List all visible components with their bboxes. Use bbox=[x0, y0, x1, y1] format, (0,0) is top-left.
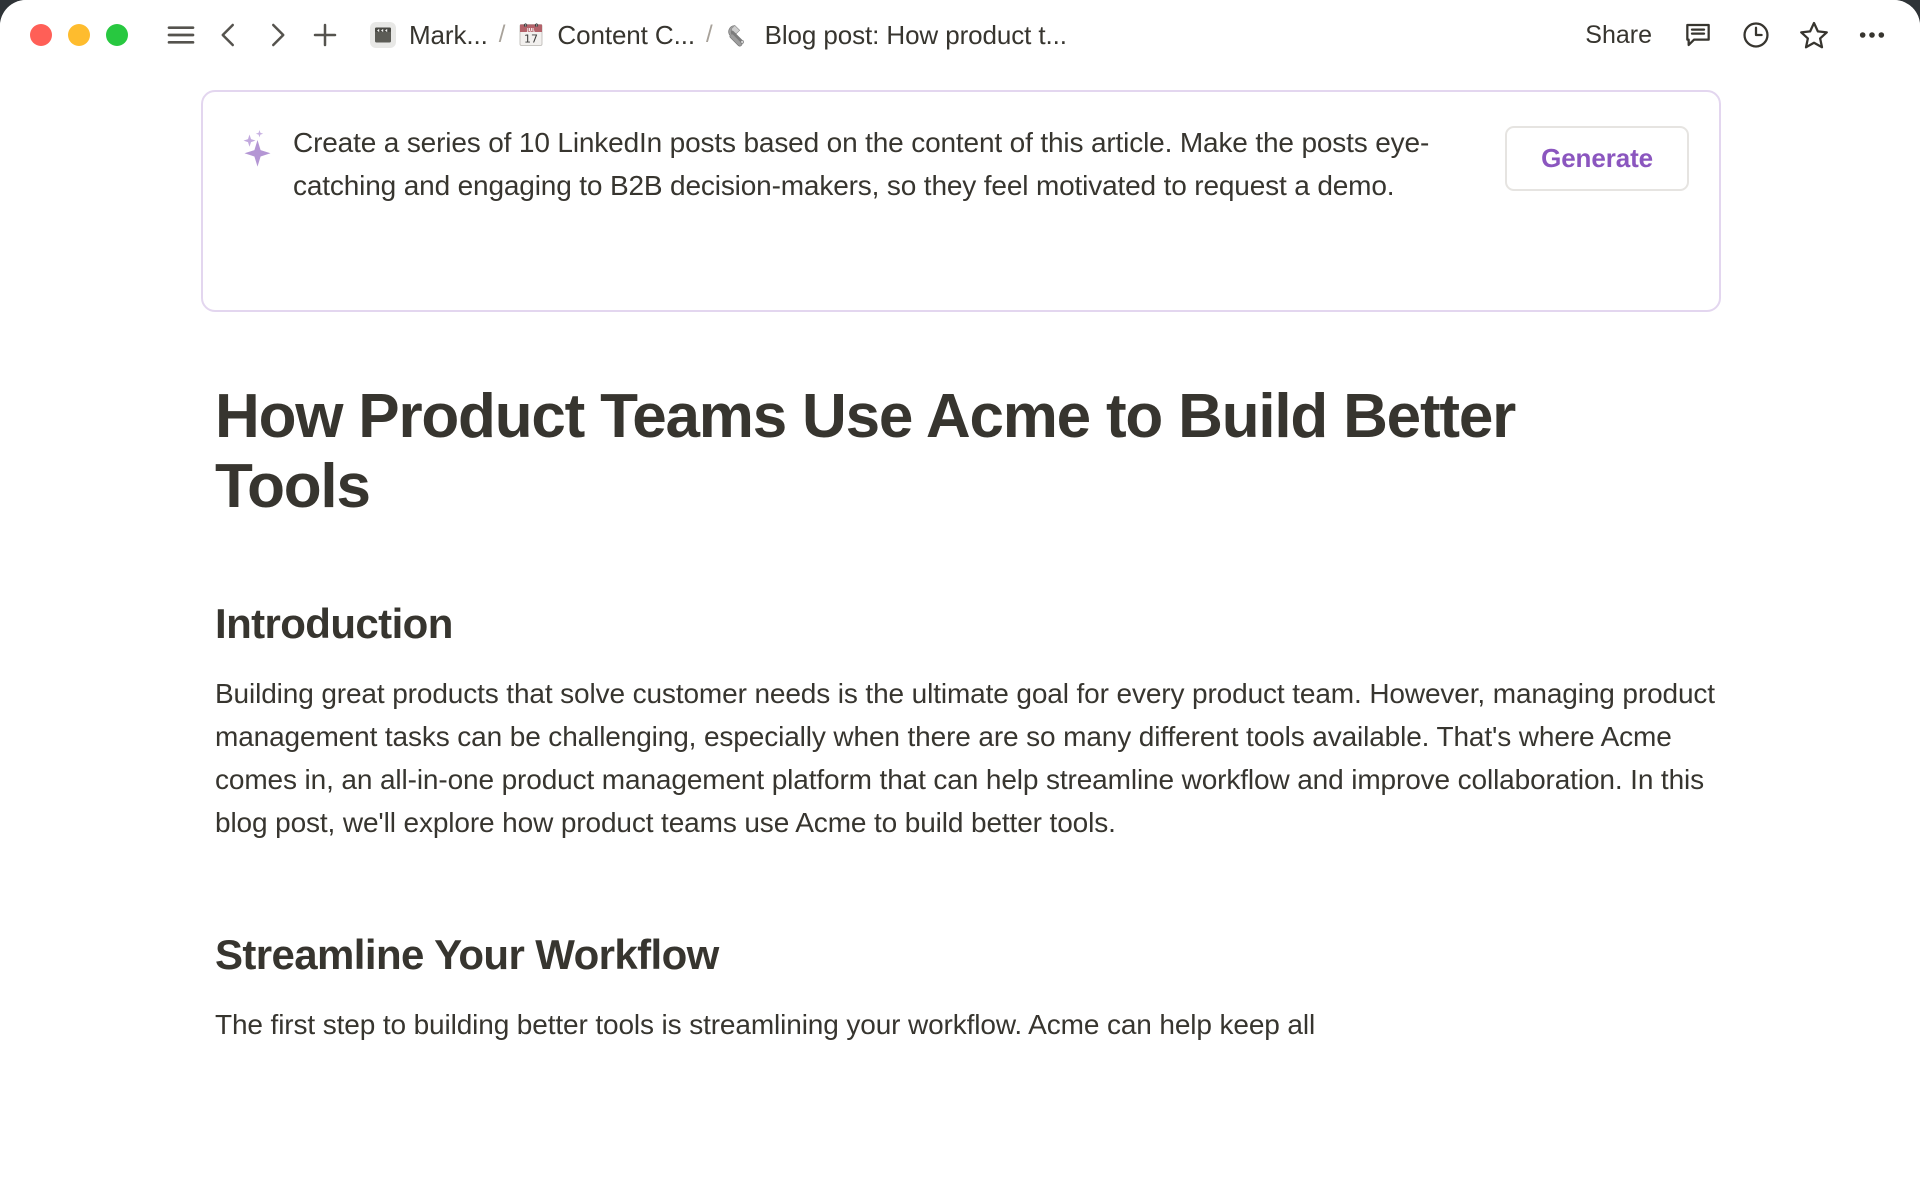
titlebar-actions: Share bbox=[1555, 13, 1894, 57]
window-controls bbox=[24, 24, 128, 46]
chevron-right-icon[interactable] bbox=[256, 14, 298, 56]
svg-text:17: 17 bbox=[524, 33, 538, 46]
ai-prompt-card[interactable]: Create a series of 10 LinkedIn posts bas… bbox=[201, 90, 1721, 312]
app-window: Mark... / JUL 17 Content C.. bbox=[0, 0, 1920, 1200]
section-paragraph-introduction[interactable]: Building great products that solve custo… bbox=[215, 672, 1720, 844]
hamburger-menu-icon[interactable] bbox=[160, 14, 202, 56]
breadcrumb-item-blog-post[interactable]: Blog post: How product t... bbox=[716, 16, 1075, 55]
ai-prompt-text: Create a series of 10 LinkedIn posts bas… bbox=[293, 120, 1505, 208]
minimize-window-button[interactable] bbox=[68, 24, 90, 46]
titlebar: Mark... / JUL 17 Content C.. bbox=[0, 0, 1920, 70]
breadcrumb-label: Mark... bbox=[409, 20, 488, 51]
breadcrumb-label: Content C... bbox=[557, 20, 695, 51]
ai-sparkle-icon bbox=[231, 126, 277, 172]
share-button[interactable]: Share bbox=[1575, 15, 1662, 56]
breadcrumb-separator: / bbox=[496, 21, 509, 49]
navigation-controls bbox=[160, 14, 346, 56]
section-heading-streamline-your-workflow[interactable]: Streamline Your Workflow bbox=[215, 931, 1720, 979]
plus-icon[interactable] bbox=[304, 14, 346, 56]
star-icon[interactable] bbox=[1792, 13, 1836, 57]
breadcrumb: Mark... / JUL 17 Content C.. bbox=[360, 16, 1555, 55]
chevron-left-icon[interactable] bbox=[208, 14, 250, 56]
page-title[interactable]: How Product Teams Use Acme to Build Bett… bbox=[215, 382, 1615, 522]
clock-icon[interactable] bbox=[1734, 13, 1778, 57]
breadcrumb-label: Blog post: How product t... bbox=[765, 20, 1067, 51]
generate-button[interactable]: Generate bbox=[1505, 126, 1689, 191]
document-content-area: Create a series of 10 LinkedIn posts bas… bbox=[0, 70, 1920, 1200]
wrench-icon bbox=[724, 20, 754, 50]
close-window-button[interactable] bbox=[30, 24, 52, 46]
comment-icon[interactable] bbox=[1676, 13, 1720, 57]
maximize-window-button[interactable] bbox=[106, 24, 128, 46]
ellipsis-icon[interactable] bbox=[1850, 13, 1894, 57]
calendar-icon: JUL 17 bbox=[516, 20, 546, 50]
document-body: How Product Teams Use Acme to Build Bett… bbox=[0, 332, 1920, 1046]
notebook-icon bbox=[368, 20, 398, 50]
section-paragraph-streamline-your-workflow[interactable]: The first step to building better tools … bbox=[215, 1003, 1720, 1046]
breadcrumb-item-content-calendar[interactable]: JUL 17 Content C... bbox=[508, 16, 703, 55]
breadcrumb-item-marketing[interactable]: Mark... bbox=[360, 16, 496, 55]
section-heading-introduction[interactable]: Introduction bbox=[215, 600, 1720, 648]
breadcrumb-separator: / bbox=[703, 21, 716, 49]
